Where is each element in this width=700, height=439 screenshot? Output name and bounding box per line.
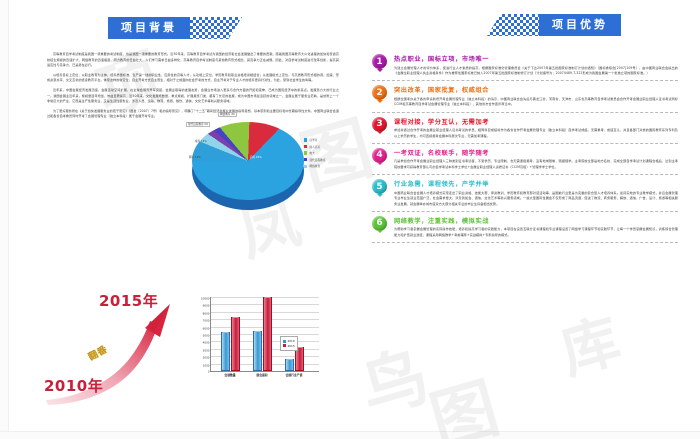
- y-tick-label: 2000: [203, 356, 210, 360]
- advantage-title: 行业急需，课程领先，产学并举: [394, 179, 678, 188]
- legend-swatch-icon: [283, 340, 286, 343]
- badge-number-label: 5: [376, 182, 382, 192]
- background-paragraph: 近年来，中国会展经济发展迅速，会展活动空间扩展，在全球会展界异军突起，会展业取得…: [47, 88, 339, 105]
- divider: [372, 143, 678, 144]
- pie-chart: 网络教育 4% 现代远程教育 3% 成考 13% 网考 13% 自考 63% 自…: [186, 112, 346, 212]
- bar-2010: [221, 332, 230, 371]
- y-tick-label: 9000: [203, 304, 210, 308]
- legend-swatch-icon: [304, 138, 307, 141]
- x-tick-label: 展会面积: [248, 373, 276, 377]
- badge-number-icon: 2: [372, 85, 387, 100]
- pie-3d-body: [192, 122, 304, 200]
- bar-2010: [285, 359, 294, 371]
- bar-2015: [263, 297, 272, 371]
- divider: [372, 211, 678, 212]
- bar-chart: 10000 9000 8000 7000 6000 5000 4000 3000…: [184, 292, 344, 392]
- bar-group: 展会面积: [253, 297, 272, 371]
- watermark-glyph: 库: [550, 294, 629, 391]
- legend-swatch-icon: [304, 158, 307, 161]
- badge-number-label: 4: [376, 150, 382, 160]
- bar-2015: [231, 317, 240, 372]
- advantage-body: 为建立会展管理人才的评价体系，促进行业人才素质的提高，根据国家标准化管理委员会《…: [394, 66, 678, 77]
- advantage-title: 网络教学，注重实践，模拟实战: [394, 216, 678, 225]
- bar-2010: [253, 331, 262, 371]
- background-paragraph: 以培养目标上定位，以职业教育为主体，培养质量标准、生产第一线的职业性、应用性的高…: [47, 73, 339, 84]
- section-header-right-label: 项目优势: [539, 14, 621, 36]
- legend-item: 2015: [283, 344, 295, 348]
- watermark-glyph: 鸟: [348, 323, 438, 433]
- background-paragraph: 高等教育自学考试制度是我国一项重要的考试制度，也是我国一项重要的教育形式。近30…: [47, 52, 339, 69]
- advantage-item-3: 3 课程对接，学分互认，无需加考 参加并通过合作开考的会展业职业经理人证书考试的…: [372, 117, 678, 139]
- pie-chart-surface: [192, 122, 304, 200]
- y-tick-label: 8000: [203, 311, 210, 315]
- advantage-title: 课程对接，学分互认，无需加考: [394, 117, 678, 126]
- y-tick-label: 3000: [203, 348, 210, 352]
- advantage-item-1: 1 热点职业，国标立项，市场唯一 为建立会展管理人才的评价体系，促进行业人才素质…: [372, 54, 678, 76]
- y-tick-label: 5000: [203, 333, 210, 337]
- advantage-title: 突出改革，国家批复，权威组合: [394, 85, 678, 94]
- badge-number-icon: 3: [372, 117, 387, 132]
- advantage-body: 参加并通过合作开考的会展业职业经理人证书考试的学员，相同科目成绩将作为各省合作开…: [394, 128, 678, 139]
- badge-number-icon: 4: [372, 148, 387, 163]
- legend-label: 成人高考: [309, 145, 320, 149]
- y-tick-label: 10000: [201, 296, 210, 300]
- advantage-body: 中国商业联合会会展人才培养模式实现走出了职业资格、技能大赛、师资教训、学历教育和…: [394, 191, 678, 207]
- pie-slice-label: 自考 63%: [250, 156, 262, 159]
- poster-page: 项 图 凤 鸟 图 库 项目背景 项目优势 高等教育自学考试制度是我国一项重要的…: [0, 0, 700, 439]
- pie-slice-label: 网考 13%: [189, 156, 201, 159]
- advantage-item-2: 2 突出改革，国家批复，权威组合 根据全国考办关于各省申请新增开考会展管理专业（…: [372, 85, 678, 107]
- legend-item: 自学考: [304, 138, 326, 142]
- checker-pattern-icon: [487, 14, 539, 36]
- section-header-advantages: 项目优势: [487, 14, 621, 36]
- watermark-glyph: 图: [418, 355, 508, 439]
- badge-number-icon: 1: [372, 54, 387, 69]
- y-tick-label: 1000: [203, 363, 210, 367]
- advantage-item-5: 5 行业急需，课程领先，产学并举 中国商业联合会会展人才培养模式实现走出了职业资…: [372, 179, 678, 207]
- legend-item: 网络教育: [304, 164, 326, 168]
- section-header-background: 项目背景: [108, 17, 242, 39]
- bar-chart-plot-area: 10000 9000 8000 7000 6000 5000 4000 3000…: [210, 297, 319, 372]
- year-target-label: 2015年: [99, 290, 158, 311]
- legend-label: 自学考: [309, 138, 317, 142]
- advantage-title: 热点职业，国标立项，市场唯一: [394, 54, 678, 63]
- badge-number-label: 2: [376, 88, 382, 98]
- advantage-item-4: 4 一考双证，名校联手，随学随考 凡是参加合作开考会展业职业经理人三种类别证书考…: [372, 148, 678, 170]
- legend-swatch-icon: [283, 344, 286, 347]
- pie-chart-legend: 自学考 成人高考 电大 现代远程教育 网络教育: [304, 138, 326, 171]
- badge-number-icon: 5: [372, 179, 387, 194]
- section-header-left-label: 项目背景: [108, 17, 190, 39]
- advantage-body: 为帮助学习者掌握会展管理的实际操作技能，培养和提高学习者的实践能力，本项目在设置…: [394, 227, 678, 238]
- page-left-edge: [0, 0, 9, 439]
- legend-swatch-icon: [304, 151, 307, 154]
- badge-number-label: 6: [376, 218, 382, 228]
- badge-number-label: 3: [376, 119, 382, 129]
- pie-slice-label: 现代远程教育 3%: [186, 122, 210, 127]
- advantage-item-6: 6 网络教学，注重实践，模拟实战 为帮助学习者掌握会展管理的实际操作技能，培养和…: [372, 216, 678, 238]
- pie-slice-label: 成考 13%: [195, 140, 207, 143]
- legend-item: 成人高考: [304, 145, 326, 149]
- y-tick-label: 0: [208, 369, 210, 373]
- bar-chart-legend: 2010 2015: [280, 336, 298, 351]
- y-tick-label: 7000: [203, 319, 210, 323]
- legend-label: 2015: [288, 344, 295, 348]
- legend-label: 现代远程教育: [309, 158, 325, 162]
- x-tick-label: 会展数量: [216, 373, 244, 377]
- divider: [372, 80, 678, 81]
- advantage-title: 一考双证，名校联手，随学随考: [394, 148, 678, 157]
- y-tick-label: 4000: [203, 341, 210, 345]
- checker-pattern-icon: [190, 17, 242, 39]
- divider: [372, 174, 678, 175]
- legend-item: 现代远程教育: [304, 158, 326, 162]
- divider: [372, 242, 678, 243]
- advantage-body: 根据全国考办关于各省申请新增开考会展管理专业（独立本科段）的请示，中国商业联合会…: [394, 97, 678, 108]
- legend-label: 网络教育: [309, 164, 320, 168]
- pie-slice-label: 网络教育 4%: [218, 112, 237, 117]
- x-tick-label: 会展行业产值: [277, 373, 311, 377]
- page-bottom-edge: [0, 431, 700, 439]
- badge-number-icon: 6: [372, 216, 387, 231]
- growth-arrow-graphic: 2015年 2010年 翻番: [42, 288, 192, 406]
- divider: [372, 112, 678, 113]
- legend-label: 2010: [288, 339, 295, 343]
- legend-item: 电大: [304, 151, 326, 155]
- legend-label: 电大: [309, 151, 314, 155]
- bar-group: 会展数量: [221, 317, 240, 372]
- y-tick-label: 6000: [203, 326, 210, 330]
- advantages-column: 1 热点职业，国标立项，市场唯一 为建立会展管理人才的评价体系，促进行业人才素质…: [372, 52, 678, 247]
- badge-number-label: 1: [376, 57, 382, 67]
- advantage-body: 凡是参加合作开考会展业职业经理人三种类别证书考试者，不受学历、专业限制，也无需通…: [394, 159, 678, 170]
- legend-item: 2010: [283, 339, 295, 343]
- legend-swatch-icon: [304, 145, 307, 148]
- legend-swatch-icon: [304, 165, 307, 168]
- year-base-label: 2010年: [44, 375, 103, 396]
